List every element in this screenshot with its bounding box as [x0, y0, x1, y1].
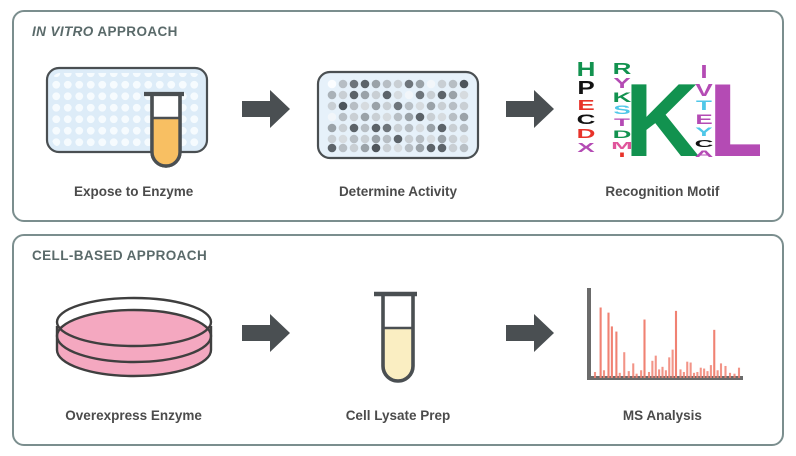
- step-label-expose-to-enzyme: Expose to Enzyme: [74, 184, 193, 199]
- svg-text:K: K: [625, 63, 700, 174]
- step-label-recognition-motif: Recognition Motif: [605, 184, 719, 199]
- step-cell-lysate-prep: Cell Lysate Prep: [293, 280, 503, 423]
- microplate-tube-icon: [39, 56, 229, 174]
- mass-spectrum-chart: [575, 280, 750, 398]
- right-arrow-icon: [504, 311, 556, 355]
- step-expose-to-enzyme: Expose to Enzyme: [29, 56, 239, 199]
- panel-in-vitro: IN VITRO APPROACH: [12, 10, 784, 222]
- right-arrow-icon: [504, 87, 556, 131]
- step-label-overexpress-enzyme: Overexpress Enzyme: [65, 408, 202, 423]
- art-mass-spectrum: [575, 280, 750, 398]
- step-label-ms-analysis: MS Analysis: [623, 408, 702, 423]
- panel-title-rest-2: CELL-BASED APPROACH: [32, 248, 207, 263]
- step-label-determine-activity: Determine Activity: [339, 184, 457, 199]
- arrow-in-vitro-2: [504, 87, 556, 136]
- steps-in-vitro: Expose to Enzyme: [14, 40, 782, 214]
- logo-column-5: L: [709, 63, 761, 174]
- panel-title-in-vitro: IN VITRO APPROACH: [32, 24, 178, 39]
- right-arrow-icon: [240, 311, 292, 355]
- svg-text:P: P: [578, 77, 595, 97]
- logo-column-1: H P E C D X: [577, 57, 596, 154]
- assay-plate-icon: [308, 56, 488, 174]
- panel-cell-based: CELL-BASED APPROACH: [12, 234, 784, 446]
- svg-text:X: X: [578, 141, 596, 154]
- spectrum-axes: [587, 288, 743, 378]
- art-assay-plate-readout: [308, 56, 488, 174]
- svg-text:C: C: [577, 112, 596, 127]
- step-ms-analysis: MS Analysis: [557, 280, 767, 423]
- svg-text:I: I: [701, 60, 708, 81]
- spectrum-peaks: [595, 307, 739, 378]
- arrow-cell-based-2: [504, 311, 556, 360]
- step-label-cell-lysate-prep: Cell Lysate Prep: [346, 408, 451, 423]
- panel-title-cell-based: CELL-BASED APPROACH: [32, 248, 207, 263]
- art-microplate-with-tube: [39, 56, 229, 174]
- panel-title-italic-part: IN VITRO: [32, 24, 94, 39]
- arrow-cell-based-1: [240, 311, 292, 360]
- svg-text:H: H: [577, 57, 596, 80]
- lysate-tube-icon: [338, 280, 458, 398]
- steps-cell-based: Overexpress Enzyme: [14, 264, 782, 438]
- logo-column-3: K: [625, 63, 700, 174]
- svg-text:L: L: [709, 63, 761, 174]
- panel-title-rest: APPROACH: [94, 24, 178, 39]
- arrow-in-vitro-1: [240, 87, 292, 136]
- svg-text:D: D: [577, 126, 596, 141]
- sequence-logo-icon: H P E C D X R Y K: [564, 56, 760, 174]
- art-lysate-tube: [338, 280, 458, 398]
- workflow-figure: IN VITRO APPROACH: [0, 0, 796, 456]
- art-sequence-logo: H P E C D X R Y K: [564, 56, 760, 174]
- art-petri-dish: [39, 280, 229, 398]
- step-recognition-motif: H P E C D X R Y K: [557, 56, 767, 199]
- svg-text:E: E: [578, 97, 595, 113]
- right-arrow-icon: [240, 87, 292, 131]
- petri-dish-icon: [39, 280, 229, 398]
- step-overexpress-enzyme: Overexpress Enzyme: [29, 280, 239, 423]
- step-determine-activity: Determine Activity: [293, 56, 503, 199]
